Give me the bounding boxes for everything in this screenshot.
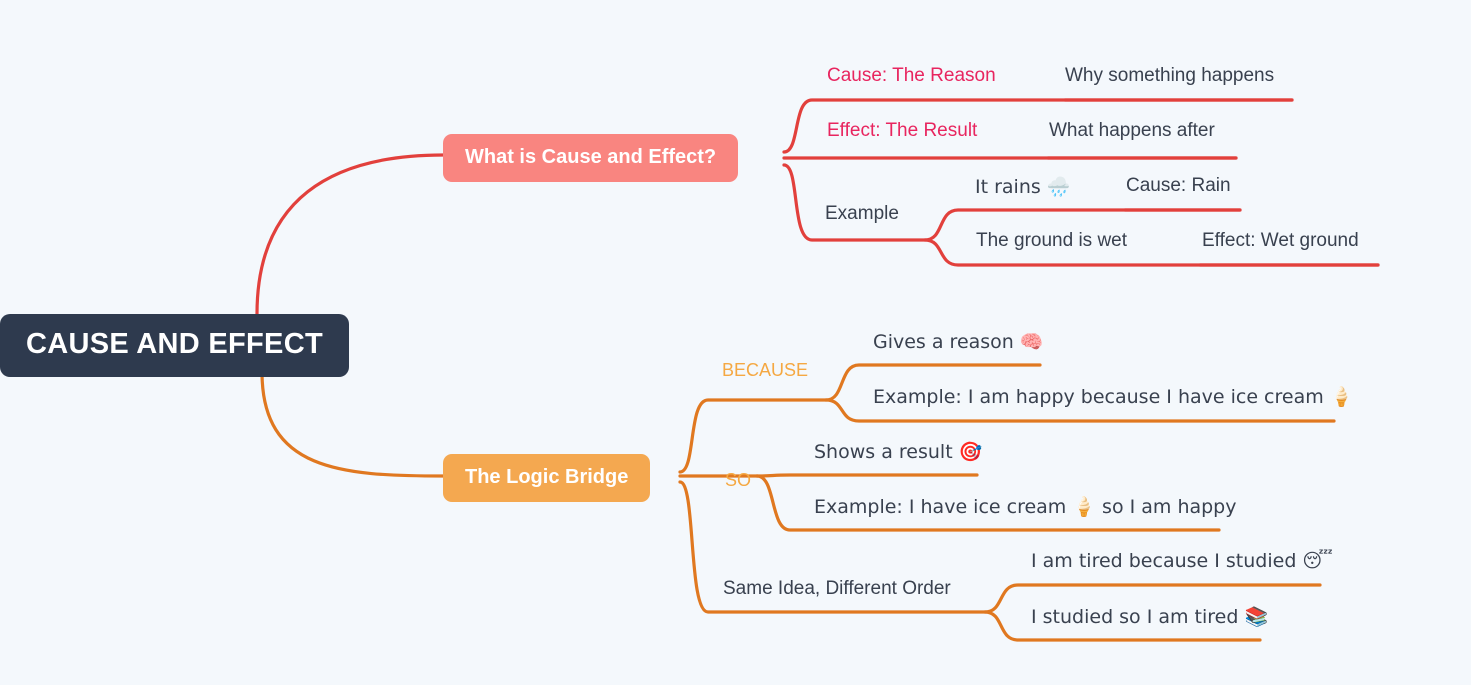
node-so-example[interactable]: Example: I have ice cream 🍦 so I am happ… [814, 495, 1237, 522]
node-the-ground-is-wet[interactable]: The ground is wet [976, 230, 1127, 256]
node-tired-because-studied[interactable]: I am tired because I studied 😴 [1031, 550, 1333, 576]
root-label: CAUSE AND EFFECT [26, 328, 323, 360]
node-label: Effect: The Result [827, 120, 977, 141]
node-label: Example [825, 203, 899, 224]
node-label: Cause: Rain [1126, 175, 1231, 196]
node-label: Gives a reason 🧠 [873, 331, 1044, 353]
node-example[interactable]: Example [825, 203, 899, 229]
node-label: Effect: Wet ground [1202, 230, 1359, 251]
node-label: Example: I am happy because I have ice c… [873, 386, 1353, 408]
node-cause-rain[interactable]: Cause: Rain [1126, 175, 1231, 201]
node-because[interactable]: BECAUSE [722, 360, 808, 385]
branch-node-the-logic-bridge[interactable]: The Logic Bridge [443, 454, 650, 502]
root-node[interactable]: CAUSE AND EFFECT [0, 314, 349, 377]
edge-root-to-logic [262, 372, 443, 476]
node-effect-the-result[interactable]: Effect: The Result [827, 120, 977, 146]
node-what-happens-after[interactable]: What happens after [1049, 120, 1215, 146]
edge-logic-to-because [680, 400, 826, 472]
node-gives-a-reason[interactable]: Gives a reason 🧠 [873, 330, 1044, 357]
node-label: The ground is wet [976, 230, 1127, 251]
edge-root-to-cause [257, 155, 443, 314]
branch-label: The Logic Bridge [465, 466, 628, 488]
node-shows-a-result[interactable]: Shows a result 🎯 [814, 440, 982, 467]
node-label: Why something happens [1065, 65, 1274, 86]
node-it-rains[interactable]: It rains 🌧️ [975, 175, 1070, 202]
node-label: Cause: The Reason [827, 65, 996, 86]
node-why-something-happens[interactable]: Why something happens [1065, 65, 1274, 91]
node-effect-wet-ground[interactable]: Effect: Wet ground [1202, 230, 1359, 256]
mindmap-canvas: CAUSE AND EFFECT What is Cause and Effec… [0, 0, 1471, 685]
branch-node-what-is-cause-and-effect[interactable]: What is Cause and Effect? [443, 134, 738, 182]
node-because-example[interactable]: Example: I am happy because I have ice c… [873, 385, 1353, 412]
node-label: Shows a result 🎯 [814, 441, 982, 463]
node-label: BECAUSE [722, 360, 808, 380]
node-label: I am tired because I studied 😴 [1031, 550, 1333, 572]
node-label: Same Idea, Different Order [723, 578, 951, 599]
node-same-idea-different-order[interactable]: Same Idea, Different Order [723, 578, 951, 604]
node-so[interactable]: SO [725, 470, 751, 495]
branch-label: What is Cause and Effect? [465, 146, 716, 168]
node-label: It rains 🌧️ [975, 176, 1070, 198]
node-label: Example: I have ice cream 🍦 so I am happ… [814, 496, 1237, 518]
node-label: SO [725, 470, 751, 490]
edge-so-to-result [757, 475, 977, 476]
node-studied-so-tired[interactable]: I studied so I am tired 📚 [1031, 605, 1268, 632]
node-label: I studied so I am tired 📚 [1031, 606, 1268, 628]
node-label: What happens after [1049, 120, 1215, 141]
node-cause-the-reason[interactable]: Cause: The Reason [827, 65, 996, 91]
